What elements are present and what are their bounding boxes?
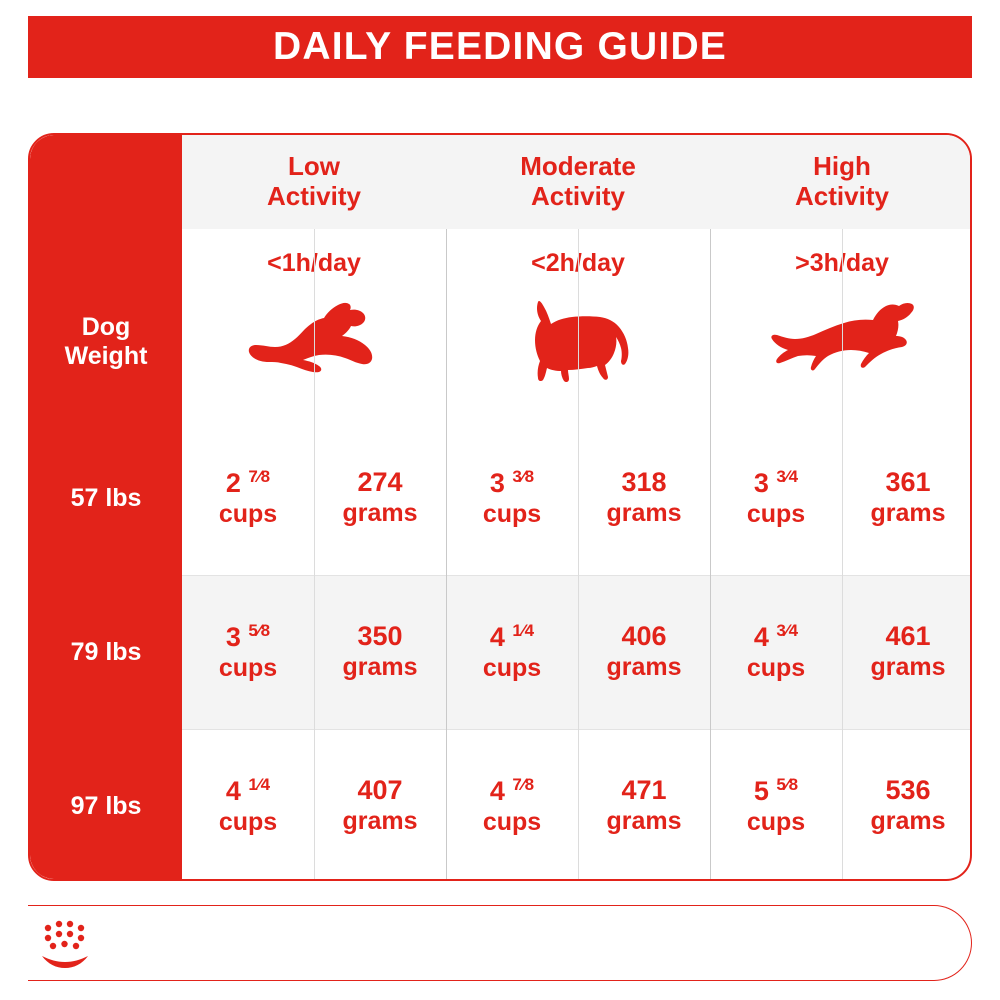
activity-cell-high: >3h/day xyxy=(710,229,972,421)
activity-header-low-line2: Activity xyxy=(267,182,361,212)
weight-column: Dog Weight 57 lbs 79 lbs 97 lbs xyxy=(30,135,182,879)
cups-fraction: 7⁄8 xyxy=(248,467,270,486)
cups-whole: 4 xyxy=(226,776,241,806)
grams-unit: grams xyxy=(342,499,417,529)
cups-fraction: 7⁄8 xyxy=(512,775,534,794)
grams-value: 407 xyxy=(357,775,402,807)
cups-cell: 4 1⁄4 cups xyxy=(446,575,578,729)
cups-fraction: 5⁄8 xyxy=(248,621,270,640)
cups-cell: 4 7⁄8 cups xyxy=(446,729,578,881)
grams-unit: grams xyxy=(606,653,681,683)
grams-value: 461 xyxy=(885,621,930,653)
grams-value: 274 xyxy=(357,467,402,499)
cups-whole: 4 xyxy=(754,622,769,652)
grams-unit: grams xyxy=(870,807,945,837)
grams-unit: grams xyxy=(606,499,681,529)
grams-cell: 471 grams xyxy=(578,729,710,881)
column-divider xyxy=(314,229,315,881)
activity-header-high-line2: Activity xyxy=(795,182,889,212)
cups-unit: cups xyxy=(219,808,277,838)
activity-header-moderate-line2: Activity xyxy=(520,182,636,212)
cups-fraction: 3⁄4 xyxy=(776,621,798,640)
cups-whole: 5 xyxy=(754,776,769,806)
royal-canin-crown-icon xyxy=(34,911,98,975)
cups-cell: 3 3⁄8 cups xyxy=(446,421,578,575)
grams-cell: 406 grams xyxy=(578,575,710,729)
cups-whole: 2 xyxy=(226,468,241,498)
data-rows: 2 7⁄8 cups 274 grams 3 3⁄8 cups xyxy=(182,421,972,881)
grams-value: 536 xyxy=(885,775,930,807)
cups-unit: cups xyxy=(483,654,541,684)
grams-unit: grams xyxy=(870,499,945,529)
cups-cell: 3 3⁄4 cups xyxy=(710,421,842,575)
cups-cell: 2 7⁄8 cups xyxy=(182,421,314,575)
cups-unit: cups xyxy=(747,500,805,530)
table-row: 3 5⁄8 cups 350 grams 4 1⁄4 cups xyxy=(182,575,972,729)
activity-duration-row: <1h/day <2h/day xyxy=(182,229,972,421)
cups-whole: 4 xyxy=(490,776,505,806)
weight-values: 57 lbs 79 lbs 97 lbs xyxy=(30,421,182,881)
column-divider xyxy=(446,229,447,881)
cups-fraction: 1⁄4 xyxy=(512,621,534,640)
cups-cell: 3 5⁄8 cups xyxy=(182,575,314,729)
page-title: DAILY FEEDING GUIDE xyxy=(273,25,727,69)
activity-header-low: Low Activity xyxy=(182,135,446,229)
cups-cell: 5 5⁄8 cups xyxy=(710,729,842,881)
weight-column-header-line1: Dog xyxy=(30,313,182,342)
weight-column-header-line2: Weight xyxy=(30,342,182,371)
grams-cell: 407 grams xyxy=(314,729,446,881)
row-activity-high: 3 3⁄4 cups 361 grams xyxy=(710,421,972,575)
table-outline: Dog Weight 57 lbs 79 lbs 97 lbs Low Acti xyxy=(28,133,972,881)
table-row: 4 1⁄4 cups 407 grams 4 7⁄8 cups xyxy=(182,729,972,881)
cups-whole: 3 xyxy=(754,468,769,498)
activity-header-high: High Activity xyxy=(710,135,972,229)
column-divider xyxy=(578,229,579,881)
grams-cell: 318 grams xyxy=(578,421,710,575)
weight-column-header: Dog Weight xyxy=(30,313,182,371)
row-divider xyxy=(182,729,972,730)
cups-unit: cups xyxy=(219,654,277,684)
table-row: 2 7⁄8 cups 274 grams 3 3⁄8 cups xyxy=(182,421,972,575)
column-divider xyxy=(842,229,843,881)
grams-cell: 274 grams xyxy=(314,421,446,575)
grams-value: 361 xyxy=(885,467,930,499)
activity-header-row: Low Activity Moderate Activity High xyxy=(182,135,972,229)
cups-fraction: 1⁄4 xyxy=(248,775,270,794)
cups-cell: 4 1⁄4 cups xyxy=(182,729,314,881)
grams-value: 471 xyxy=(621,775,666,807)
footer xyxy=(28,905,972,981)
feeding-table: Dog Weight 57 lbs 79 lbs 97 lbs Low Acti xyxy=(28,133,972,881)
cups-whole: 3 xyxy=(226,622,241,652)
weight-cell: 79 lbs xyxy=(30,575,182,729)
grams-cell: 536 grams xyxy=(842,729,972,881)
activity-header-low-line1: Low xyxy=(267,152,361,182)
cups-unit: cups xyxy=(747,808,805,838)
cups-fraction: 3⁄8 xyxy=(512,467,534,486)
grams-unit: grams xyxy=(606,807,681,837)
cups-whole: 4 xyxy=(490,622,505,652)
header-banner: DAILY FEEDING GUIDE xyxy=(28,16,972,78)
grams-unit: grams xyxy=(870,653,945,683)
column-divider xyxy=(710,229,711,881)
grams-unit: grams xyxy=(342,807,417,837)
grams-unit: grams xyxy=(342,653,417,683)
weight-cell: 97 lbs xyxy=(30,729,182,881)
footer-rule xyxy=(28,905,972,981)
activity-grid: Low Activity Moderate Activity High xyxy=(182,135,972,881)
cups-fraction: 3⁄4 xyxy=(776,467,798,486)
activity-header-high-line1: High xyxy=(795,152,889,182)
cups-cell: 4 3⁄4 cups xyxy=(710,575,842,729)
grams-cell: 350 grams xyxy=(314,575,446,729)
cups-unit: cups xyxy=(483,500,541,530)
row-activity-high: 4 3⁄4 cups 461 grams xyxy=(710,575,972,729)
grams-value: 318 xyxy=(621,467,666,499)
activity-header-moderate-line1: Moderate xyxy=(520,152,636,182)
weight-cell: 57 lbs xyxy=(30,421,182,575)
cups-whole: 3 xyxy=(490,468,505,498)
row-activity-high: 5 5⁄8 cups 536 grams xyxy=(710,729,972,881)
cups-unit: cups xyxy=(483,808,541,838)
activity-header-moderate: Moderate Activity xyxy=(446,135,710,229)
grams-cell: 361 grams xyxy=(842,421,972,575)
row-divider xyxy=(182,575,972,576)
grams-value: 350 xyxy=(357,621,402,653)
cups-fraction: 5⁄8 xyxy=(776,775,798,794)
cups-unit: cups xyxy=(747,654,805,684)
cups-unit: cups xyxy=(219,500,277,530)
feeding-guide-page: DAILY FEEDING GUIDE Dog Weight 57 lbs 79… xyxy=(0,0,1000,1000)
grams-value: 406 xyxy=(621,621,666,653)
grams-cell: 461 grams xyxy=(842,575,972,729)
